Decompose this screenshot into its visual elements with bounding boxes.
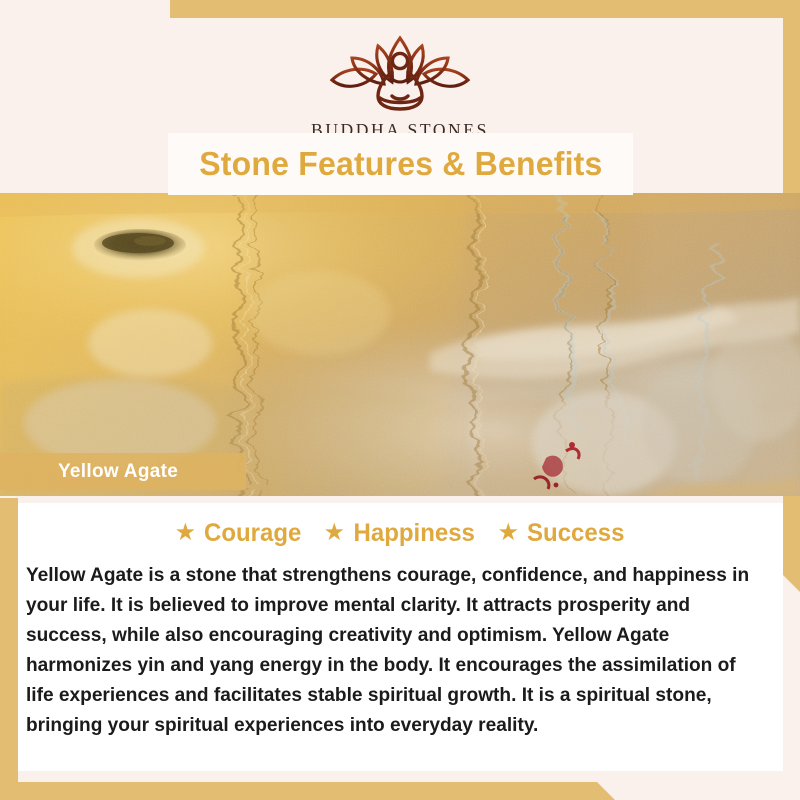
stone-name: Yellow Agate — [58, 461, 178, 483]
content-card: ★ Courage ★ Happiness ★ Success Yellow A… — [18, 503, 783, 771]
star-icon: ★ — [497, 521, 519, 545]
stone-name-badge: Yellow Agate — [0, 453, 246, 490]
section-title-banner: Stone Features & Benefits — [168, 133, 633, 195]
benefit-item-success: ★ Success — [497, 519, 626, 548]
frame-bottom-gold-bar — [0, 782, 615, 800]
benefit-label: Courage — [204, 519, 301, 548]
page-title: Stone Features & Benefits — [199, 145, 602, 183]
star-icon: ★ — [175, 521, 197, 545]
frame-top-gold-bar — [170, 0, 800, 18]
lotus-meditation-icon — [316, 30, 484, 116]
benefits-list: ★ Courage ★ Happiness ★ Success — [18, 503, 783, 548]
benefit-item-happiness: ★ Happiness — [323, 519, 477, 548]
benefit-item-courage: ★ Courage — [175, 519, 304, 548]
promo-infographic-page: BUDDHA STONES Stone Features & Benefits — [0, 0, 800, 800]
star-icon: ★ — [323, 521, 345, 545]
stone-description: Yellow Agate is a stone that strengthens… — [26, 560, 764, 740]
benefit-label: Success — [527, 519, 624, 548]
stone-photo — [0, 193, 800, 496]
benefit-label: Happiness — [354, 519, 475, 548]
frame-left-gold-bar — [0, 498, 18, 800]
